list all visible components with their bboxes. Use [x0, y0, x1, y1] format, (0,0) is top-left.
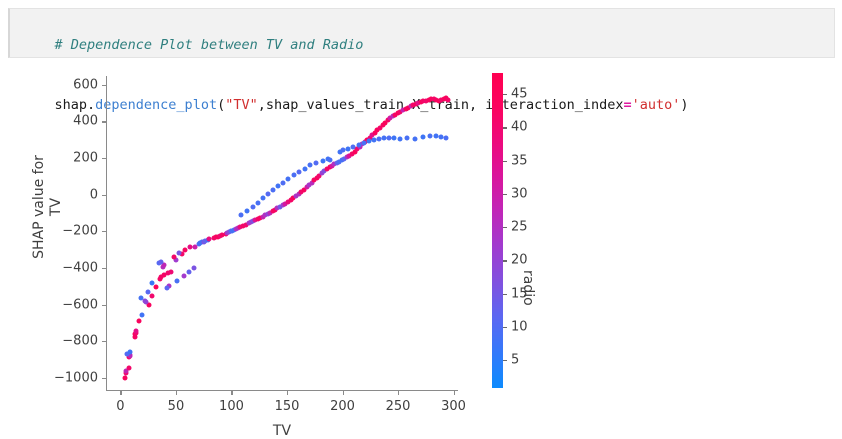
y-axis-tick: [102, 231, 106, 232]
colorbar-tick: [503, 260, 507, 261]
y-axis-tick-label: 0: [90, 187, 98, 202]
y-axis-tick-label: 400: [73, 114, 98, 129]
scatter-point: [181, 273, 186, 278]
colorbar-tick-label: 10: [511, 319, 528, 334]
x-axis-tick: [176, 391, 177, 395]
y-axis-tick-label: 200: [73, 151, 98, 166]
scatter-point: [239, 213, 244, 218]
y-axis-label-line1: SHAP value for: [31, 127, 48, 287]
scatter-point: [281, 180, 286, 185]
colorbar-tick: [503, 127, 507, 128]
scatter-point: [145, 289, 150, 294]
scatter-point: [314, 161, 319, 166]
scatter-point: [122, 375, 127, 380]
y-axis-tick-label: −800: [62, 334, 98, 349]
y-axis-tick: [102, 121, 106, 122]
scatter-point: [126, 365, 131, 370]
colorbar-tick: [503, 227, 507, 228]
scatter-point: [158, 260, 163, 265]
colorbar-tick: [503, 161, 507, 162]
x-axis-tick: [231, 391, 232, 395]
y-axis-tick-label: −1000: [54, 370, 98, 385]
scatter-point: [174, 279, 179, 284]
x-axis-tick-label: 150: [275, 399, 300, 414]
scatter-point: [271, 187, 276, 192]
x-axis-tick-label: 250: [386, 399, 411, 414]
colorbar-label: radio: [520, 270, 536, 306]
y-axis-spine: [106, 76, 107, 391]
scatter-point: [150, 294, 155, 299]
y-axis-label-line2: TV: [48, 127, 65, 287]
scatter-point: [443, 135, 448, 140]
scatter-point: [149, 281, 154, 286]
code-cell[interactable]: # Dependence Plot between TV and Radio s…: [8, 8, 835, 58]
scatter-point: [421, 134, 426, 139]
x-axis-tick: [454, 391, 455, 395]
y-axis-tick-label: 600: [73, 77, 98, 92]
shap-dependence-plot-figure: 6004002000−200−400−600−800−1000 05010015…: [0, 60, 842, 429]
x-axis-tick: [120, 391, 121, 395]
x-axis-tick: [398, 391, 399, 395]
y-axis-tick: [102, 85, 106, 86]
y-axis-tick: [102, 158, 106, 159]
y-axis-tick: [102, 341, 106, 342]
scatter-point: [297, 169, 302, 174]
y-axis-tick-label: −200: [62, 224, 98, 239]
colorbar-tick-label: 45: [511, 87, 528, 102]
colorbar-tick-label: 35: [511, 153, 528, 168]
colorbar-tick: [503, 294, 507, 295]
y-axis-tick: [102, 305, 106, 306]
y-axis-label: SHAP value for TV: [31, 127, 65, 287]
x-axis-tick-label: 0: [116, 399, 124, 414]
scatter-point: [308, 163, 313, 168]
scatter-point: [351, 145, 356, 150]
scatter-point: [292, 172, 297, 177]
scatter-point: [139, 312, 144, 317]
colorbar-tick: [503, 327, 507, 328]
colorbar-tick-label: 40: [511, 120, 528, 135]
scatter-point: [153, 285, 158, 290]
scatter-point: [134, 329, 139, 334]
scatter-point: [245, 209, 250, 214]
scatter-point: [328, 157, 333, 162]
colorbar-gradient: [492, 73, 503, 388]
colorbar-tick: [503, 360, 507, 361]
x-axis-tick-label: 100: [219, 399, 244, 414]
scatter-point: [128, 350, 133, 355]
colorbar-tick: [503, 94, 507, 95]
colorbar-tick-label: 5: [511, 353, 519, 368]
plot-axes-area: 6004002000−200−400−600−800−1000 05010015…: [106, 76, 458, 391]
scatter-point: [171, 255, 176, 260]
scatter-point: [186, 269, 191, 274]
scatter-point: [412, 136, 417, 141]
scatter-point: [176, 250, 181, 255]
scatter-point: [446, 97, 451, 102]
y-axis-tick-label: −600: [62, 297, 98, 312]
scatter-point: [251, 204, 256, 209]
y-axis-tick-label: −400: [62, 260, 98, 275]
scatter-point: [276, 184, 281, 189]
scatter-point: [302, 166, 307, 171]
scatter-point: [137, 319, 142, 324]
scatter-point: [169, 269, 174, 274]
scatter-point: [286, 176, 291, 181]
scatter-point: [391, 135, 396, 140]
scatter-point: [428, 134, 433, 139]
code-comment: # Dependence Plot between TV and Radio: [55, 37, 364, 53]
x-axis-tick: [287, 391, 288, 395]
colorbar-tick: [503, 194, 507, 195]
scatter-point: [139, 296, 144, 301]
x-axis-label: TV: [106, 423, 458, 439]
colorbar-tick-label: 25: [511, 220, 528, 235]
colorbar: 51015202530354045: [492, 73, 503, 388]
y-axis-tick: [102, 195, 106, 196]
x-axis-tick: [343, 391, 344, 395]
scatter-point: [191, 265, 196, 270]
scatter-point: [320, 159, 325, 164]
y-axis-tick: [102, 268, 106, 269]
y-axis-tick: [102, 378, 106, 379]
colorbar-tick-label: 30: [511, 186, 528, 201]
scatter-point: [165, 286, 170, 291]
scatter-point: [398, 137, 403, 142]
x-axis-tick-label: 50: [168, 399, 185, 414]
scatter-point: [256, 200, 261, 205]
colorbar-tick-label: 20: [511, 253, 528, 268]
x-axis-tick-label: 300: [441, 399, 466, 414]
x-axis-tick-label: 200: [330, 399, 355, 414]
scatter-point: [266, 191, 271, 196]
scatter-point: [405, 135, 410, 140]
scatter-point: [261, 195, 266, 200]
x-axis-spine: [106, 390, 458, 391]
